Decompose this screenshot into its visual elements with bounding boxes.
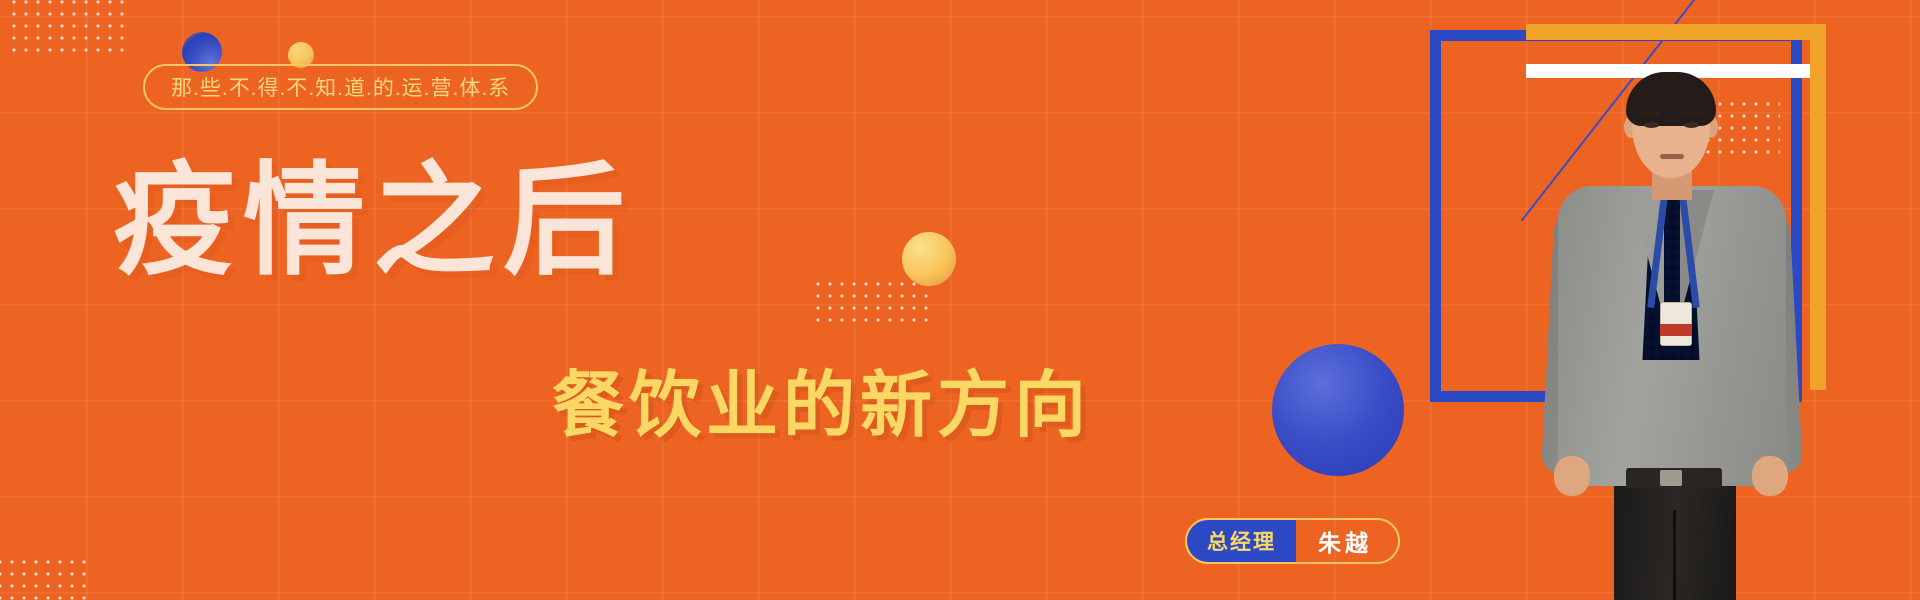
rectangle-frame-icon-top [1526,24,1826,40]
portrait-hair [1626,72,1716,126]
portrait-eye-left [1644,122,1659,128]
circle-icon-yellow-medium [902,232,956,286]
speaker-badge: 总经理 朱越 [1185,518,1400,564]
tagline-text: 那.些.不.得.不.知.道.的.运.营.体.系 [171,72,510,102]
page-subtitle: 餐饮业的新方向 [552,370,1091,442]
portrait-mouth [1660,154,1684,159]
portrait-eye-right [1684,122,1699,128]
speaker-portrait [1514,50,1824,600]
portrait-eyebrow-right [1682,112,1702,116]
promo-banner: 那.些.不.得.不.知.道.的.运.营.体.系 疫情之后 餐饮业的新方向 总经理… [0,0,1920,600]
circle-icon-blue-large [1272,344,1404,476]
portrait-id-card-band [1660,324,1692,336]
tagline-pill: 那.些.不.得.不.知.道.的.运.营.体.系 [143,64,538,110]
portrait-eyebrow-left [1640,112,1660,116]
dot-grid-icon-middle [812,278,930,326]
dot-grid-icon-bottom-left [0,556,90,600]
portrait-belt-buckle [1660,470,1682,486]
speaker-role: 总经理 [1187,520,1296,562]
portrait-trouser-seam [1673,510,1676,600]
portrait-hand-right [1752,456,1788,496]
speaker-photo-frame [1430,30,1830,600]
page-title: 疫情之后 [113,160,633,282]
dot-grid-icon-top-left [8,0,126,54]
portrait-hand-left [1554,456,1590,496]
speaker-name: 朱越 [1296,520,1398,562]
